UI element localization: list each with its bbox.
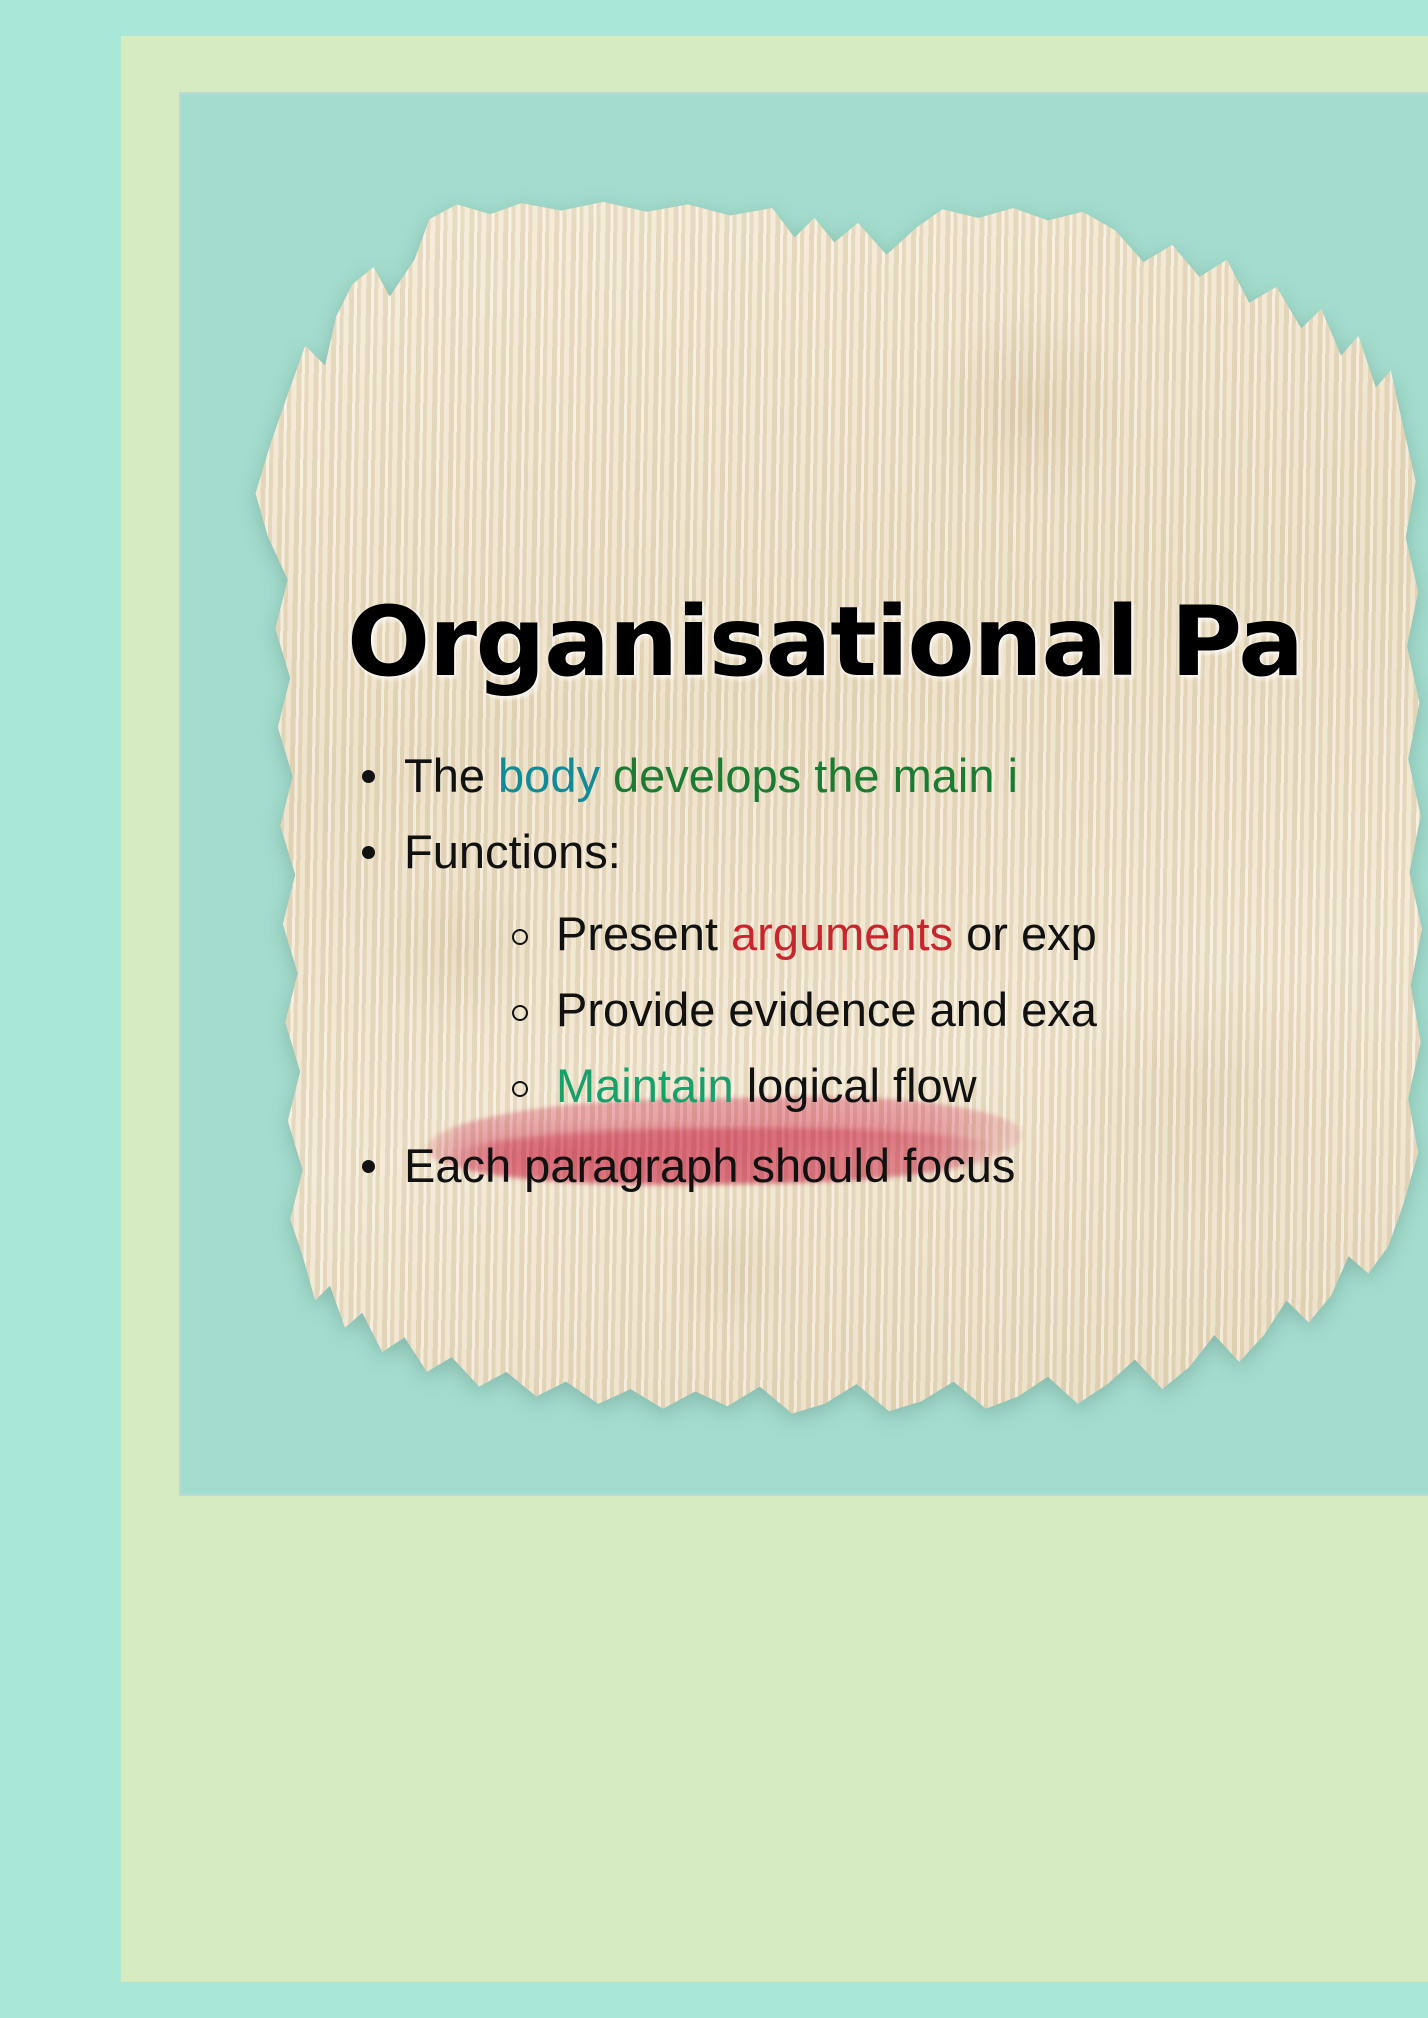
sub-bullet-item-provide-evidence: Provide evidence and exa: [404, 972, 1428, 1048]
bullet-dot-icon: [362, 1160, 375, 1173]
bullet-ring-icon: [512, 1005, 528, 1021]
sub-bullet-text-segment: Provide evidence and exa: [556, 983, 1097, 1036]
bullet-ring-icon: [512, 929, 528, 945]
bullet-text-segment: The: [404, 749, 498, 802]
bullet-ring-icon: [512, 1081, 528, 1097]
bullet-item-functions: Functions: Present arguments or exp Prov…: [352, 814, 1428, 1124]
bullet-text-segment-highlighted-body: body: [498, 749, 613, 802]
sub-bullet-text-segment: or exp: [966, 907, 1097, 960]
bullet-text-segment-green: develops the main i: [613, 749, 1018, 802]
sub-bullet-text-segment-red: arguments: [731, 907, 966, 960]
sub-bullet-text-segment: logical flow: [747, 1059, 977, 1112]
slide-canvas: Organisational Pa The body develops the …: [0, 0, 1428, 2018]
bullet-item-each-paragraph: Each paragraph should focus: [352, 1128, 1428, 1204]
bullet-text-segment: Functions:: [404, 825, 621, 878]
sub-bullet-list: Present arguments or exp Provide evidenc…: [404, 896, 1428, 1124]
bullet-text-segment: Each paragraph should focus: [404, 1139, 1015, 1192]
bullet-dot-icon: [362, 846, 375, 859]
slide-content: Organisational Pa The body develops the …: [0, 0, 1428, 2018]
slide-title: Organisational Pa: [347, 594, 1303, 690]
bullet-list: The body develops the main i Functions: …: [352, 738, 1428, 1204]
sub-bullet-text-segment: Present: [556, 907, 731, 960]
bullet-item-body: The body develops the main i: [352, 738, 1428, 814]
sub-bullet-item-maintain-logical-flow: Maintain logical flow: [404, 1048, 1428, 1124]
bullet-dot-icon: [362, 770, 375, 783]
sub-bullet-item-present-arguments: Present arguments or exp: [404, 896, 1428, 972]
sub-bullet-text-segment-emerald: Maintain: [556, 1059, 747, 1112]
